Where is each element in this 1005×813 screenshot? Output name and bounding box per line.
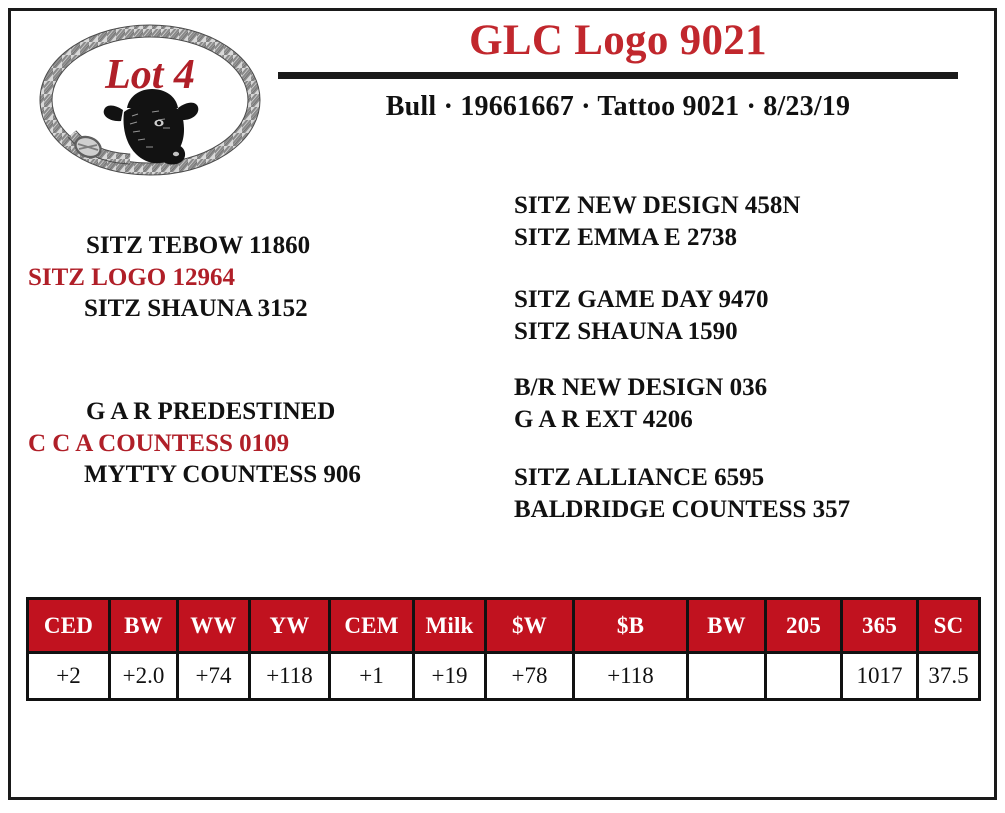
page-title: GLC Logo 9021	[278, 18, 958, 63]
animal-details: Bull · 19661667 · Tattoo 9021 · 8/23/19	[278, 91, 958, 123]
epd-value-cell: +2	[28, 653, 110, 700]
rope-oval-icon: Lot 4	[26, 16, 276, 191]
epd-table-container: CED BW WW YW CEM Milk $W $B BW 205 365 S…	[26, 597, 978, 701]
sire-paternal-granddam-name: SITZ EMMA E 2738	[514, 222, 984, 254]
epd-table: CED BW WW YW CEM Milk $W $B BW 205 365 S…	[26, 597, 981, 701]
pedigree-sire-group: SITZ TEBOW 11860 SITZ LOGO 12964 SITZ SH…	[28, 230, 498, 325]
epd-value-cell: +74	[178, 653, 250, 700]
dam-paternal-pair: B/R NEW DESIGN 036 G A R EXT 4206	[514, 372, 984, 435]
epd-header-cell: $B	[574, 599, 688, 653]
dam-maternal-pair: SITZ ALLIANCE 6595 BALDRIDGE COUNTESS 35…	[514, 462, 984, 525]
dam-paternal-granddam-name: G A R EXT 4206	[514, 404, 984, 436]
sire-maternal-pair: SITZ GAME DAY 9470 SITZ SHAUNA 1590	[514, 284, 984, 347]
catalog-page: Lot 4 GLC Log	[0, 0, 1005, 813]
sire-sire-name: SITZ TEBOW 11860	[28, 230, 498, 262]
dam-sire-name: G A R PREDESTINED	[28, 396, 498, 428]
epd-value-cell: +118	[574, 653, 688, 700]
epd-header-cell: YW	[250, 599, 330, 653]
epd-header-cell: 205	[766, 599, 842, 653]
sire-paternal-grandsire-name: SITZ NEW DESIGN 458N	[514, 190, 984, 222]
sire-dam-name: SITZ SHAUNA 3152	[28, 293, 498, 325]
epd-header-cell: Milk	[414, 599, 486, 653]
epd-value-cell: 37.5	[918, 653, 980, 700]
epd-value-cell: +118	[250, 653, 330, 700]
pedigree-chart: SITZ TEBOW 11860 SITZ LOGO 12964 SITZ SH…	[0, 186, 1005, 566]
animal-header: GLC Logo 9021 Bull · 19661667 · Tattoo 9…	[278, 18, 958, 123]
title-divider	[278, 72, 958, 79]
epd-value-row: +2 +2.0 +74 +118 +1 +19 +78 +118 1017 37…	[28, 653, 980, 700]
epd-value-cell: +19	[414, 653, 486, 700]
dam-maternal-grandsire-name: SITZ ALLIANCE 6595	[514, 462, 984, 494]
lot-badge: Lot 4	[26, 16, 276, 191]
dam-name: C C A COUNTESS 0109	[28, 428, 498, 460]
dam-maternal-granddam-name: BALDRIDGE COUNTESS 357	[514, 494, 984, 526]
epd-header-row: CED BW WW YW CEM Milk $W $B BW 205 365 S…	[28, 599, 980, 653]
dam-paternal-grandsire-name: B/R NEW DESIGN 036	[514, 372, 984, 404]
epd-header-cell: WW	[178, 599, 250, 653]
epd-header-cell: 365	[842, 599, 918, 653]
epd-header-cell: BW	[110, 599, 178, 653]
pedigree-dam-group: G A R PREDESTINED C C A COUNTESS 0109 MY…	[28, 396, 498, 491]
epd-value-cell: +78	[486, 653, 574, 700]
epd-value-cell: +1	[330, 653, 414, 700]
sire-name: SITZ LOGO 12964	[28, 262, 498, 294]
epd-value-cell: 1017	[842, 653, 918, 700]
sire-maternal-granddam-name: SITZ SHAUNA 1590	[514, 316, 984, 348]
epd-header-cell: CED	[28, 599, 110, 653]
epd-value-cell	[688, 653, 766, 700]
epd-header-cell: BW	[688, 599, 766, 653]
epd-value-cell	[766, 653, 842, 700]
epd-header-cell: SC	[918, 599, 980, 653]
epd-value-cell: +2.0	[110, 653, 178, 700]
epd-header-cell: CEM	[330, 599, 414, 653]
sire-paternal-pair: SITZ NEW DESIGN 458N SITZ EMMA E 2738	[514, 190, 984, 253]
epd-header-cell: $W	[486, 599, 574, 653]
dam-dam-name: MYTTY COUNTESS 906	[28, 459, 498, 491]
sire-maternal-grandsire-name: SITZ GAME DAY 9470	[514, 284, 984, 316]
